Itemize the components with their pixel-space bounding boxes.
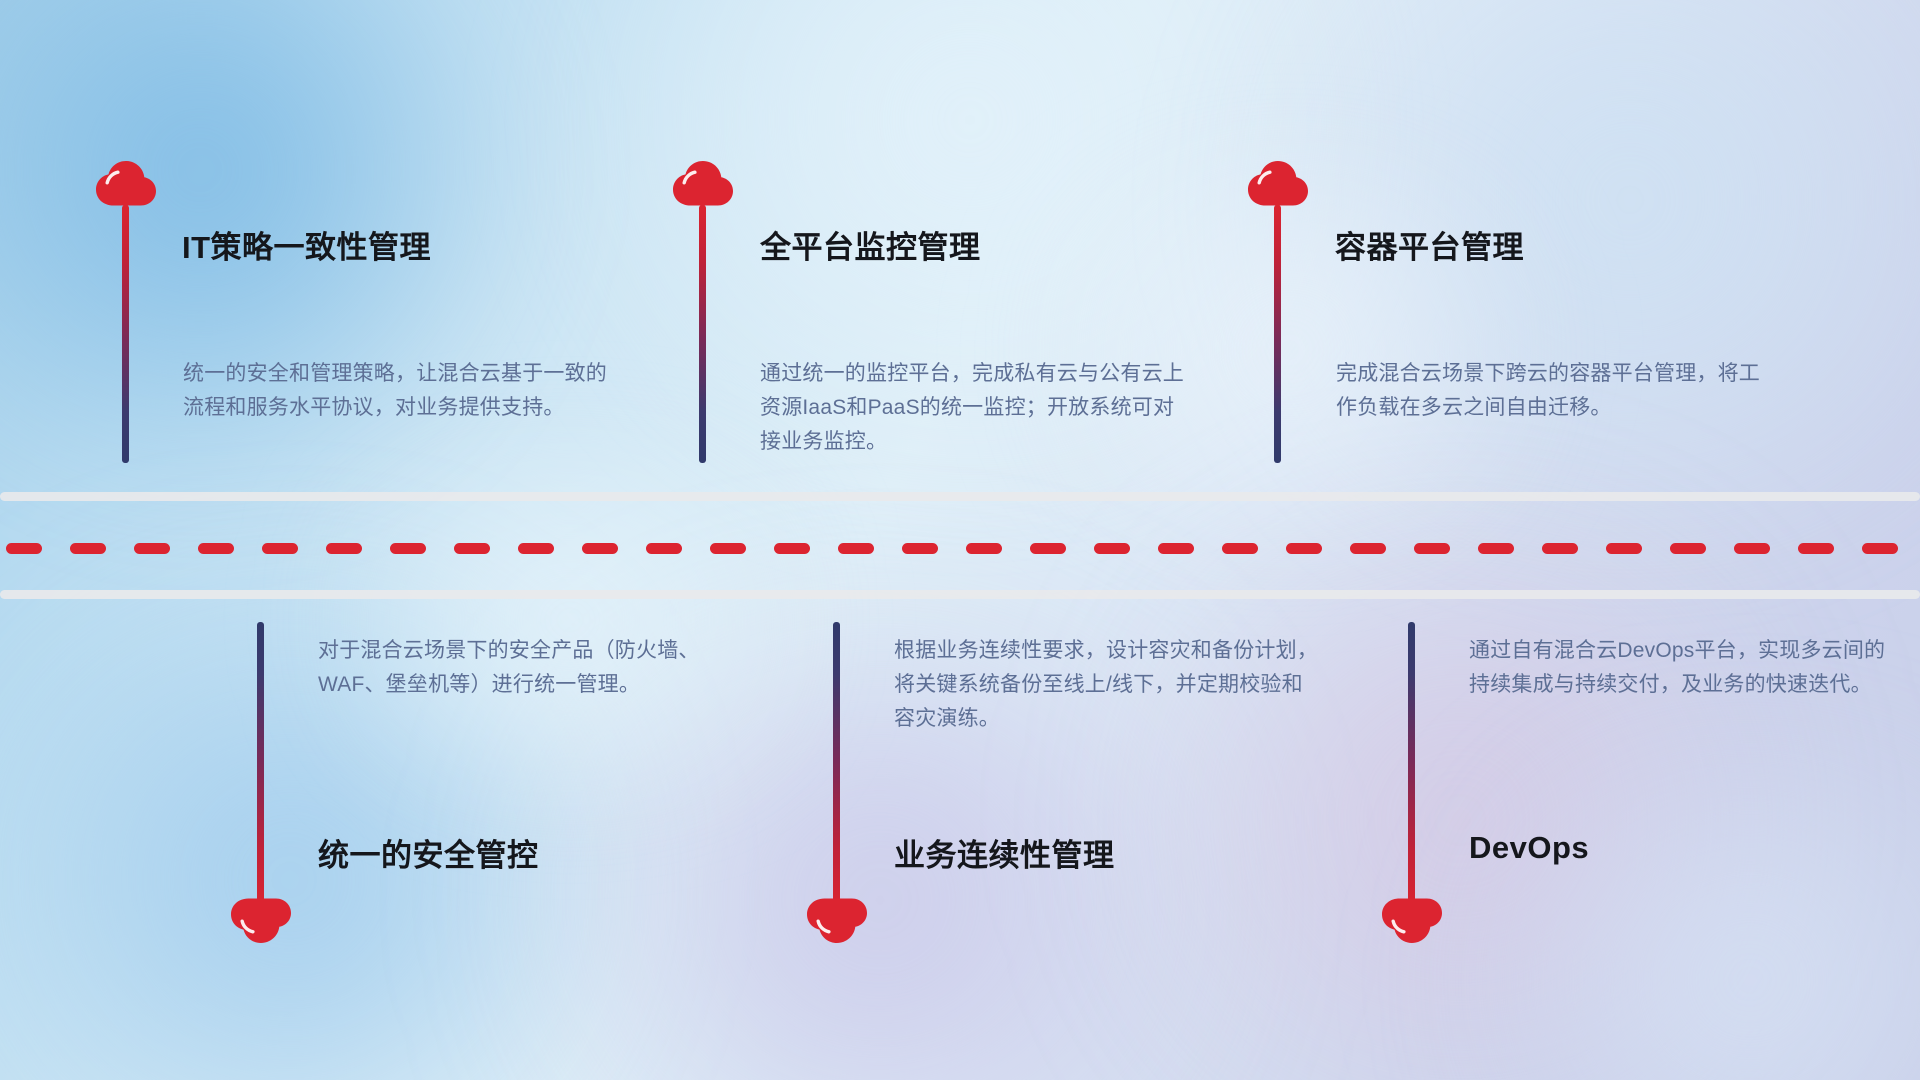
road-dash: [1158, 543, 1194, 554]
card-description: 根据业务连续性要求，设计容灾和备份计划，将关键系统备份至线上/线下，并定期校验和…: [894, 634, 1324, 736]
cloud-icon: [672, 160, 734, 206]
road-dash: [1094, 543, 1130, 554]
pin-stem: [257, 622, 264, 912]
road-dash: [1798, 543, 1834, 554]
card-description: 通过自有混合云DevOps平台，实现多云间的持续集成与持续交付，及业务的快速迭代…: [1469, 634, 1899, 702]
road-dash: [1030, 543, 1066, 554]
road-dash: [1606, 543, 1642, 554]
cloud-icon: [1381, 898, 1443, 944]
road-dash: [134, 543, 170, 554]
road-dash: [1286, 543, 1322, 554]
cloud-icon: [1247, 160, 1309, 206]
pin-stem: [833, 622, 840, 912]
background-blob: [260, 470, 880, 770]
cloud-icon: [806, 898, 868, 944]
road-dash: [262, 543, 298, 554]
card-title: IT策略一致性管理: [182, 222, 431, 267]
cloud-icon: [230, 898, 292, 944]
card-title: 容器平台管理: [1335, 222, 1524, 267]
road-dashed-centerline: [0, 543, 1920, 554]
road-line-top: [0, 492, 1920, 501]
road-line-bottom: [0, 590, 1920, 599]
road-dash: [966, 543, 1002, 554]
road-dash: [1478, 543, 1514, 554]
cloud-icon: [95, 160, 157, 206]
road-dash: [646, 543, 682, 554]
road-dash: [518, 543, 554, 554]
background-blob: [1180, 0, 1920, 520]
card-description: 通过统一的监控平台，完成私有云与公有云上资源IaaS和PaaS的统一监控；开放系…: [760, 357, 1190, 459]
card-description: 完成混合云场景下跨云的容器平台管理，将工作负载在多云之间自由迁移。: [1336, 357, 1766, 425]
road-dash: [582, 543, 618, 554]
pin-stem: [699, 205, 706, 463]
pin-stem: [122, 205, 129, 463]
background-blob: [1050, 540, 1870, 1080]
road-dash: [454, 543, 490, 554]
card-title: 业务连续性管理: [894, 830, 1115, 875]
road-dash: [1862, 543, 1898, 554]
pin-stem: [1408, 622, 1415, 912]
card-title: DevOps: [1469, 830, 1589, 866]
road-dash: [1222, 543, 1258, 554]
road-dash: [6, 543, 42, 554]
road-dash: [710, 543, 746, 554]
road-dash: [1670, 543, 1706, 554]
road-dash: [774, 543, 810, 554]
card-description: 统一的安全和管理策略，让混合云基于一致的流程和服务水平协议，对业务提供支持。: [183, 357, 613, 425]
road-dash: [1542, 543, 1578, 554]
road-dash: [838, 543, 874, 554]
road-dash: [1734, 543, 1770, 554]
road-dash: [390, 543, 426, 554]
road-dash: [326, 543, 362, 554]
road-dash: [1350, 543, 1386, 554]
road-dash: [902, 543, 938, 554]
road-dash: [198, 543, 234, 554]
card-title: 全平台监控管理: [760, 222, 981, 267]
card-title: 统一的安全管控: [318, 830, 539, 875]
pin-stem: [1274, 205, 1281, 463]
road-dash: [70, 543, 106, 554]
road-dash: [1414, 543, 1450, 554]
card-description: 对于混合云场景下的安全产品（防火墙、WAF、堡垒机等）进行统一管理。: [318, 634, 748, 702]
infographic-canvas: IT策略一致性管理 统一的安全和管理策略，让混合云基于一致的流程和服务水平协议，…: [0, 0, 1920, 1080]
background-blob: [1400, 760, 1920, 1080]
